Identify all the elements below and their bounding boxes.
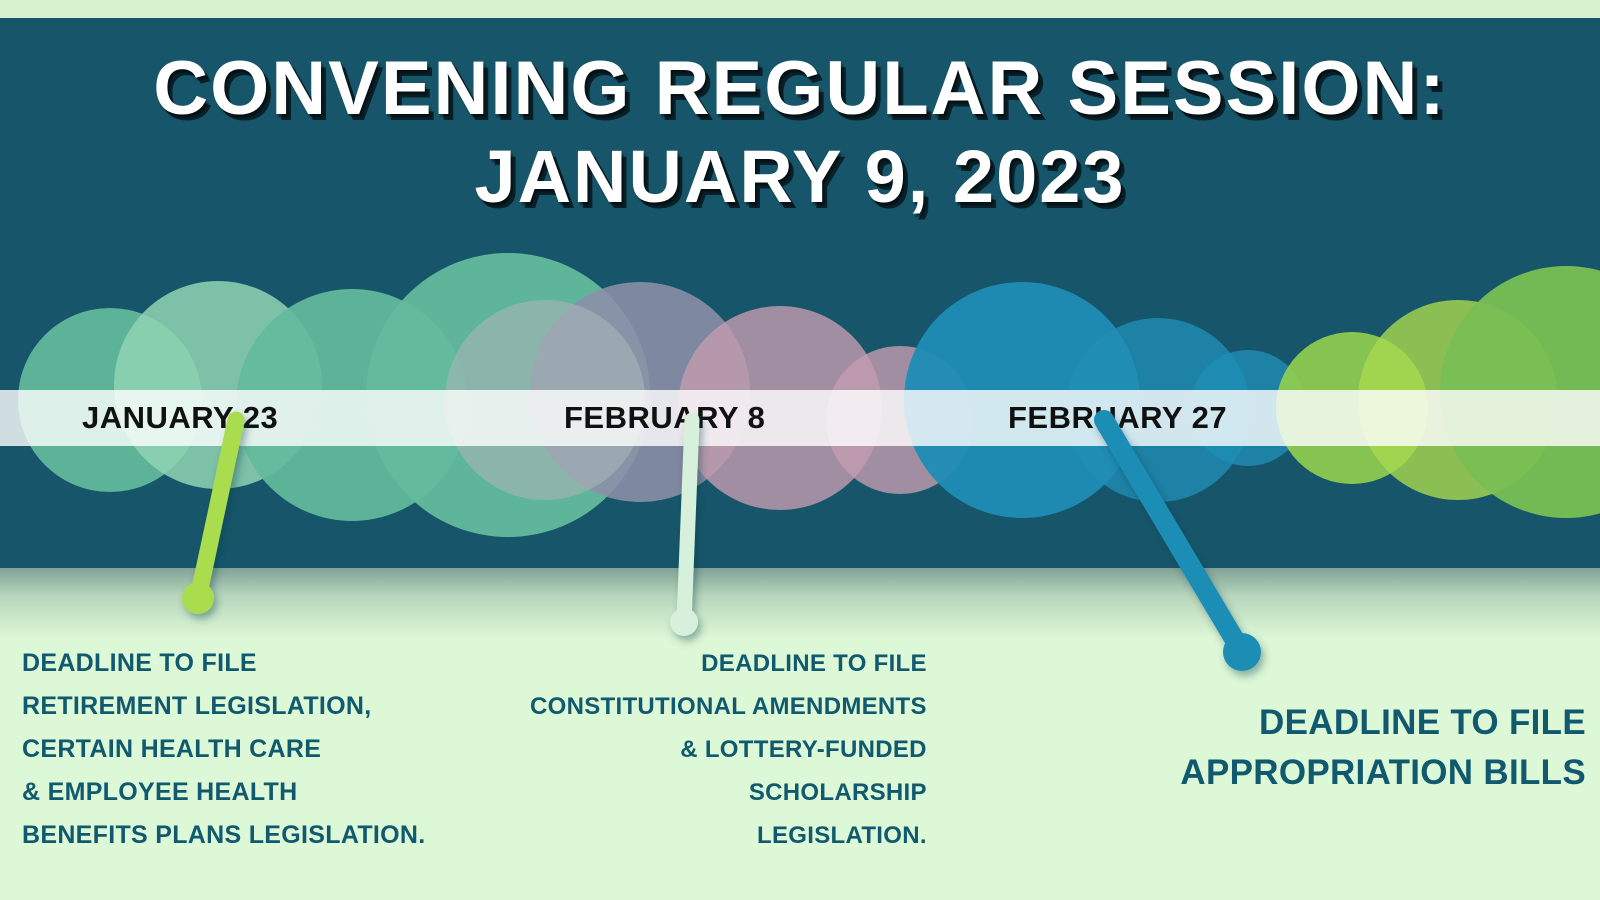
caption-line: CERTAIN HEALTH CARE	[22, 728, 426, 771]
caption-line: RETIREMENT LEGISLATION,	[22, 685, 426, 728]
caption-line: & EMPLOYEE HEALTH	[22, 771, 426, 814]
milestone-date-february-27: FEBRUARY 27	[1008, 390, 1227, 446]
caption-line: CONSTITUTIONAL AMENDMENTS	[512, 685, 927, 728]
caption-line: DEADLINE TO FILE	[22, 642, 426, 685]
caption-line: SCHOLARSHIP	[512, 771, 927, 814]
caption-line: DEADLINE TO FILE	[1180, 698, 1586, 748]
hero-panel: JANUARY 23 FEBRUARY 8 FEBRUARY 27 CONVEN…	[0, 18, 1600, 568]
caption-january-23: DEADLINE TO FILE RETIREMENT LEGISLATION,…	[22, 642, 426, 857]
caption-line: & LOTTERY-FUNDED	[512, 728, 927, 771]
milestone-date-january-23: JANUARY 23	[82, 390, 278, 446]
infographic-root: JANUARY 23 FEBRUARY 8 FEBRUARY 27 CONVEN…	[0, 0, 1600, 900]
page-title: CONVENING REGULAR SESSION: JANUARY 9, 20…	[0, 46, 1600, 222]
caption-line: LEGISLATION.	[512, 814, 927, 857]
caption-line: APPROPRIATION BILLS	[1180, 748, 1586, 798]
caption-february-8: DEADLINE TO FILE CONSTITUTIONAL AMENDMEN…	[512, 642, 927, 857]
caption-line: BENEFITS PLANS LEGISLATION.	[22, 814, 426, 857]
title-line-secondary: JANUARY 9, 2023	[0, 132, 1600, 222]
caption-line: DEADLINE TO FILE	[512, 642, 927, 685]
milestone-date-february-8: FEBRUARY 8	[564, 390, 765, 446]
caption-february-27: DEADLINE TO FILE APPROPRIATION BILLS	[1180, 698, 1586, 798]
title-line-primary: CONVENING REGULAR SESSION:	[0, 46, 1600, 132]
